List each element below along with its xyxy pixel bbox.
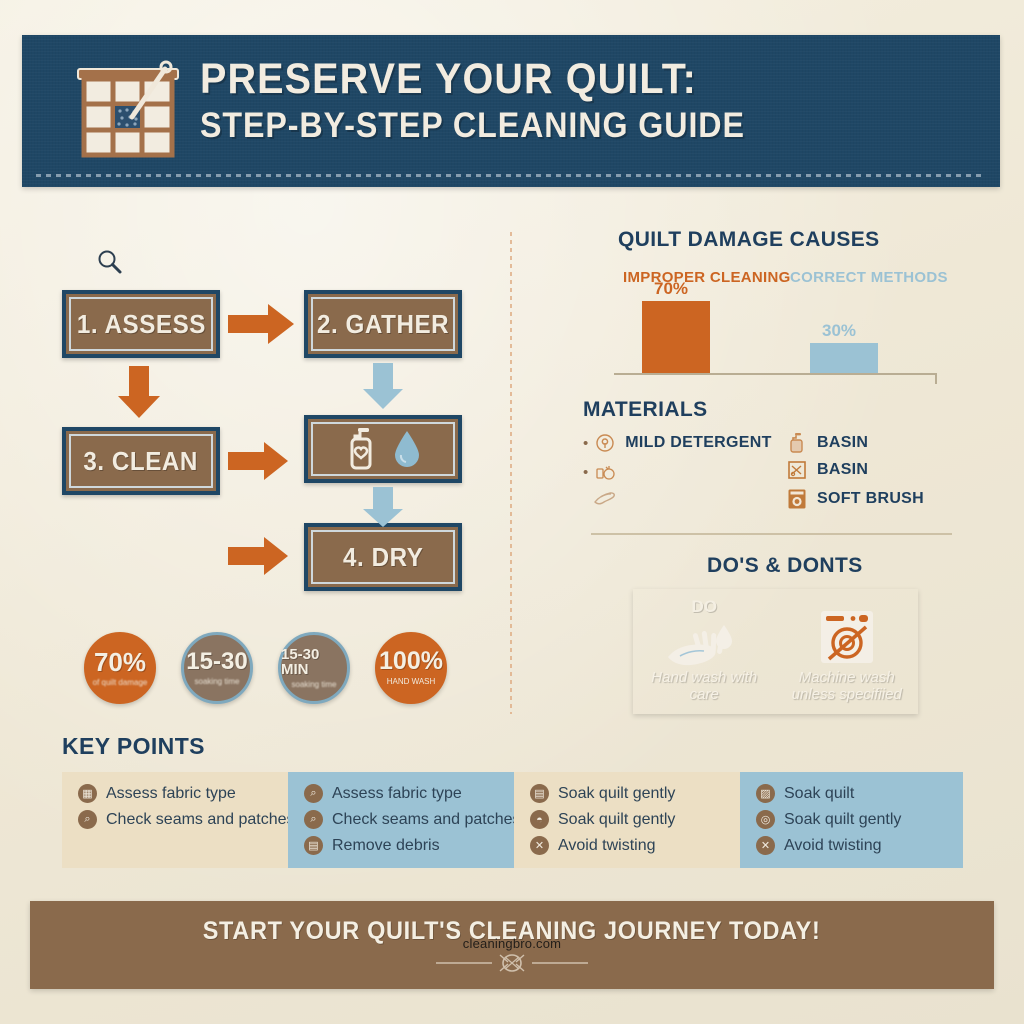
step-label: 2. GATHER xyxy=(317,309,449,340)
bar-value-label: 70% xyxy=(654,279,688,299)
step-box-gather[interactable]: 2. GATHER xyxy=(304,290,462,358)
bullet-icon: • xyxy=(583,436,588,451)
title-line-1: PRESERVE YOUR QUILT: xyxy=(200,57,745,102)
drop-icon: ◓ xyxy=(530,810,549,829)
list-item: ✕ Avoid twisting xyxy=(756,836,963,855)
material-label: SOFT BRUSH xyxy=(817,490,924,508)
hand-wash-icon xyxy=(593,488,617,508)
arrow-gather-to-supplies-icon xyxy=(361,363,405,411)
list-item-label: Check seams and patches xyxy=(106,811,295,829)
header-banner: PRESERVE YOUR QUILT: STEP-BY-STEP CLEANI… xyxy=(22,35,1000,187)
step-label: 4. DRY xyxy=(343,542,423,573)
detergent-bottle-icon xyxy=(595,433,615,453)
list-item-label: Assess fabric type xyxy=(332,785,462,803)
material-item: • xyxy=(583,461,627,483)
materials-title: MATERIALS xyxy=(583,398,708,422)
bullet-icon: • xyxy=(583,465,588,480)
list-item: ▨ Soak quilt xyxy=(756,784,963,803)
arrow-assess-to-clean-icon xyxy=(116,366,162,420)
list-item-label: Remove debris xyxy=(332,837,440,855)
stat-sublabel: soaking time xyxy=(192,678,243,687)
arrow-to-dry-icon xyxy=(228,535,290,577)
chart-axis xyxy=(614,373,936,375)
list-item-label: Avoid twisting xyxy=(784,837,882,855)
fabric-icon: ▦ xyxy=(78,784,97,803)
key-points-panel: ▤ Soak quilt gently ◓ Soak quilt gently … xyxy=(514,772,740,868)
stat-circle: 15-30 soaking time xyxy=(181,632,253,704)
key-points-panels: ▦ Assess fabric type ⌕ Check seams and p… xyxy=(62,772,963,868)
header-dashed-rule xyxy=(36,174,986,177)
chart-title: QUILT DAMAGE CAUSES xyxy=(618,228,880,252)
step-label: 1. ASSESS xyxy=(76,309,205,340)
step-label: 3. CLEAN xyxy=(84,446,199,477)
bar xyxy=(810,343,878,374)
horizontal-divider xyxy=(591,533,952,535)
infographic-page: PRESERVE YOUR QUILT: STEP-BY-STEP CLEANI… xyxy=(0,0,1024,1024)
bar-chart: IMPROPER CLEANING CORRECT METHODS 70% 30… xyxy=(590,262,955,382)
list-item-label: Soak quilt gently xyxy=(558,811,675,829)
material-label: MILD DETERGENT xyxy=(625,434,771,452)
key-points-panel: ▨ Soak quilt ◎ Soak quilt gently ✕ Avoid… xyxy=(740,772,963,868)
list-item: ◓ Soak quilt gently xyxy=(530,810,740,829)
dont-cell: Machine wash unless specifiied xyxy=(776,589,919,714)
key-points-panel: ▦ Assess fabric type ⌕ Check seams and p… xyxy=(62,772,288,868)
list-item: ⌕ Assess fabric type xyxy=(304,784,514,803)
list-item: ✕ Avoid twisting xyxy=(530,836,740,855)
no-machine-icon: ▨ xyxy=(756,784,775,803)
list-item-label: Check seams and patches xyxy=(332,811,521,829)
list-item-label: Soak quilt gently xyxy=(784,811,901,829)
circle-icon: ◎ xyxy=(756,810,775,829)
x-icon: ✕ xyxy=(530,836,549,855)
list-item-label: Assess fabric type xyxy=(106,785,236,803)
material-item xyxy=(593,488,627,508)
step-box-assess[interactable]: 1. ASSESS xyxy=(62,290,220,358)
bar xyxy=(642,301,710,374)
material-label: BASIN xyxy=(817,461,868,479)
stat-circle: 70% of quilt damage xyxy=(84,632,156,704)
no-machine-wash-icon xyxy=(816,607,878,669)
soap-dispenser-icon xyxy=(344,427,378,471)
thread-spool-ornament-icon xyxy=(432,952,592,974)
material-item: • MILD DETERGENT xyxy=(583,433,772,453)
quilt-frame-needle-icon xyxy=(70,55,188,167)
magnifier-icon: ⌕ xyxy=(304,810,323,829)
list-item-label: Soak quilt gently xyxy=(558,785,675,803)
do-cell: DO Hand wash with care xyxy=(633,589,776,714)
soap-pump-icon xyxy=(787,432,807,454)
no-scissors-icon xyxy=(787,460,807,480)
bar-category-label: CORRECT METHODS xyxy=(790,269,948,286)
magnifying-glass-icon xyxy=(96,248,124,276)
stat-sublabel: soaking time xyxy=(289,681,340,690)
list-item: ◎ Soak quilt gently xyxy=(756,810,963,829)
brush-icon: ▤ xyxy=(304,836,323,855)
magnifier-icon: ⌕ xyxy=(78,810,97,829)
list-item: ▤ Remove debris xyxy=(304,836,514,855)
list-item: ⌕ Check seams and patches xyxy=(304,810,514,829)
list-item: ⌕ Check seams and patches xyxy=(78,810,288,829)
arrow-clean-to-supplies-icon xyxy=(228,440,290,482)
dont-text: Machine wash unless specifiied xyxy=(782,670,913,704)
stat-value: 100% xyxy=(379,649,443,674)
list-item-label: Avoid twisting xyxy=(558,837,656,855)
stat-sublabel: HAND WASH xyxy=(384,678,439,687)
do-tag: DO xyxy=(692,597,718,617)
step-box-clean[interactable]: 3. CLEAN xyxy=(62,427,220,495)
list-item-label: Soak quilt xyxy=(784,785,854,803)
stat-circle: 15-30 MIN soaking time xyxy=(278,632,350,704)
dos-donts-title: DO'S & DONTS xyxy=(707,554,863,578)
header-title: PRESERVE YOUR QUILT: STEP-BY-STEP CLEANI… xyxy=(200,57,792,146)
washing-machine-icon xyxy=(787,488,807,510)
spray-bottle-icon xyxy=(595,461,617,483)
basin-icon: ▤ xyxy=(530,784,549,803)
stat-circle: 100% HAND WASH xyxy=(375,632,447,704)
material-item: SOFT BRUSH xyxy=(787,488,924,510)
stat-value: 70% xyxy=(94,649,146,675)
arrow-supplies-to-dry-icon xyxy=(361,487,405,529)
bar-value-label: 30% xyxy=(822,321,856,341)
material-label: BASIN xyxy=(817,434,868,452)
vertical-divider xyxy=(510,232,512,714)
hand-wash-drop-icon xyxy=(662,619,746,675)
stat-sublabel: of quilt damage xyxy=(90,679,151,688)
list-item: ▦ Assess fabric type xyxy=(78,784,288,803)
material-item: BASIN xyxy=(787,460,868,480)
key-points-panel: ⌕ Assess fabric type ⌕ Check seams and p… xyxy=(288,772,514,868)
watermark: cleaningbro.com xyxy=(463,936,561,951)
step-box-clean-supplies[interactable] xyxy=(304,415,462,483)
dos-donts-panel: DO Hand wash with care xyxy=(633,589,918,714)
step-box-dry[interactable]: 4. DRY xyxy=(304,523,462,591)
title-line-2: STEP-BY-STEP CLEANING GUIDE xyxy=(200,105,745,146)
x-icon: ✕ xyxy=(756,836,775,855)
material-item: BASIN xyxy=(787,432,868,454)
arrow-assess-to-gather-icon xyxy=(228,302,296,346)
list-item: ▤ Soak quilt gently xyxy=(530,784,740,803)
search-icon: ⌕ xyxy=(304,784,323,803)
do-text: Hand wash with care xyxy=(639,670,770,704)
key-points-title: KEY POINTS xyxy=(62,733,205,760)
bar-category-label: IMPROPER CLEANING xyxy=(623,269,791,286)
stat-value: 15-30 xyxy=(186,650,247,674)
stat-value: 15-30 MIN xyxy=(281,647,347,677)
water-drop-icon xyxy=(392,429,422,469)
